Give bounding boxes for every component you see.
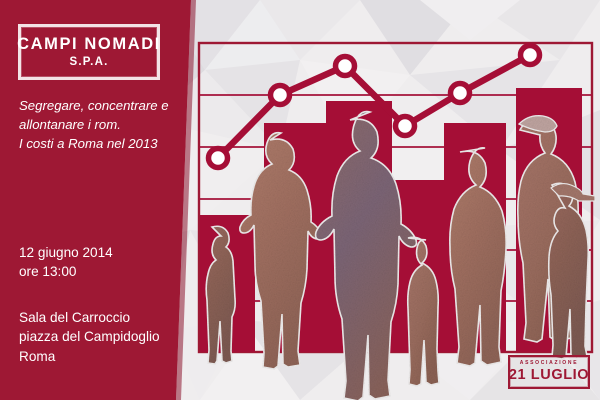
- event-address: piazza del Campidoglio: [19, 327, 160, 346]
- event-city: Roma: [19, 347, 160, 366]
- tagline-line-3: I costi a Roma nel 2013: [19, 134, 179, 153]
- assoc-name: 21 LUGLIO: [509, 368, 589, 383]
- silhouette-child-center: [408, 237, 439, 386]
- poster-root: CAMPI NOMADI S.P.A. Segregare, concentra…: [0, 0, 600, 400]
- stamp-subtitle: S.P.A.: [70, 57, 109, 69]
- silhouette-man-center: [316, 112, 417, 400]
- campi-nomadi-stamp: CAMPI NOMADI S.P.A.: [18, 24, 160, 80]
- associazione-21-luglio-logo: ASSOCIAZIONE 21 LUGLIO: [508, 355, 590, 389]
- silhouette-woman-right: [450, 148, 506, 366]
- silhouette-child-left: [206, 226, 235, 364]
- tagline-line-1: Segregare, concentrare e: [19, 96, 179, 115]
- tagline: Segregare, concentrare e allontanare i r…: [19, 96, 179, 153]
- event-time: ore 13:00: [19, 262, 113, 281]
- event-venue: Sala del Carroccio: [19, 308, 160, 327]
- event-date: 12 giugno 2014: [19, 243, 113, 262]
- event-datetime: 12 giugno 2014 ore 13:00: [19, 243, 113, 282]
- assoc-label: ASSOCIAZIONE: [520, 361, 578, 366]
- silhouette-woman-left: [240, 133, 321, 369]
- event-location: Sala del Carroccio piazza del Campidogli…: [19, 308, 160, 366]
- tagline-line-2: allontanare i rom.: [19, 115, 179, 134]
- stamp-title: CAMPI NOMADI: [17, 36, 161, 53]
